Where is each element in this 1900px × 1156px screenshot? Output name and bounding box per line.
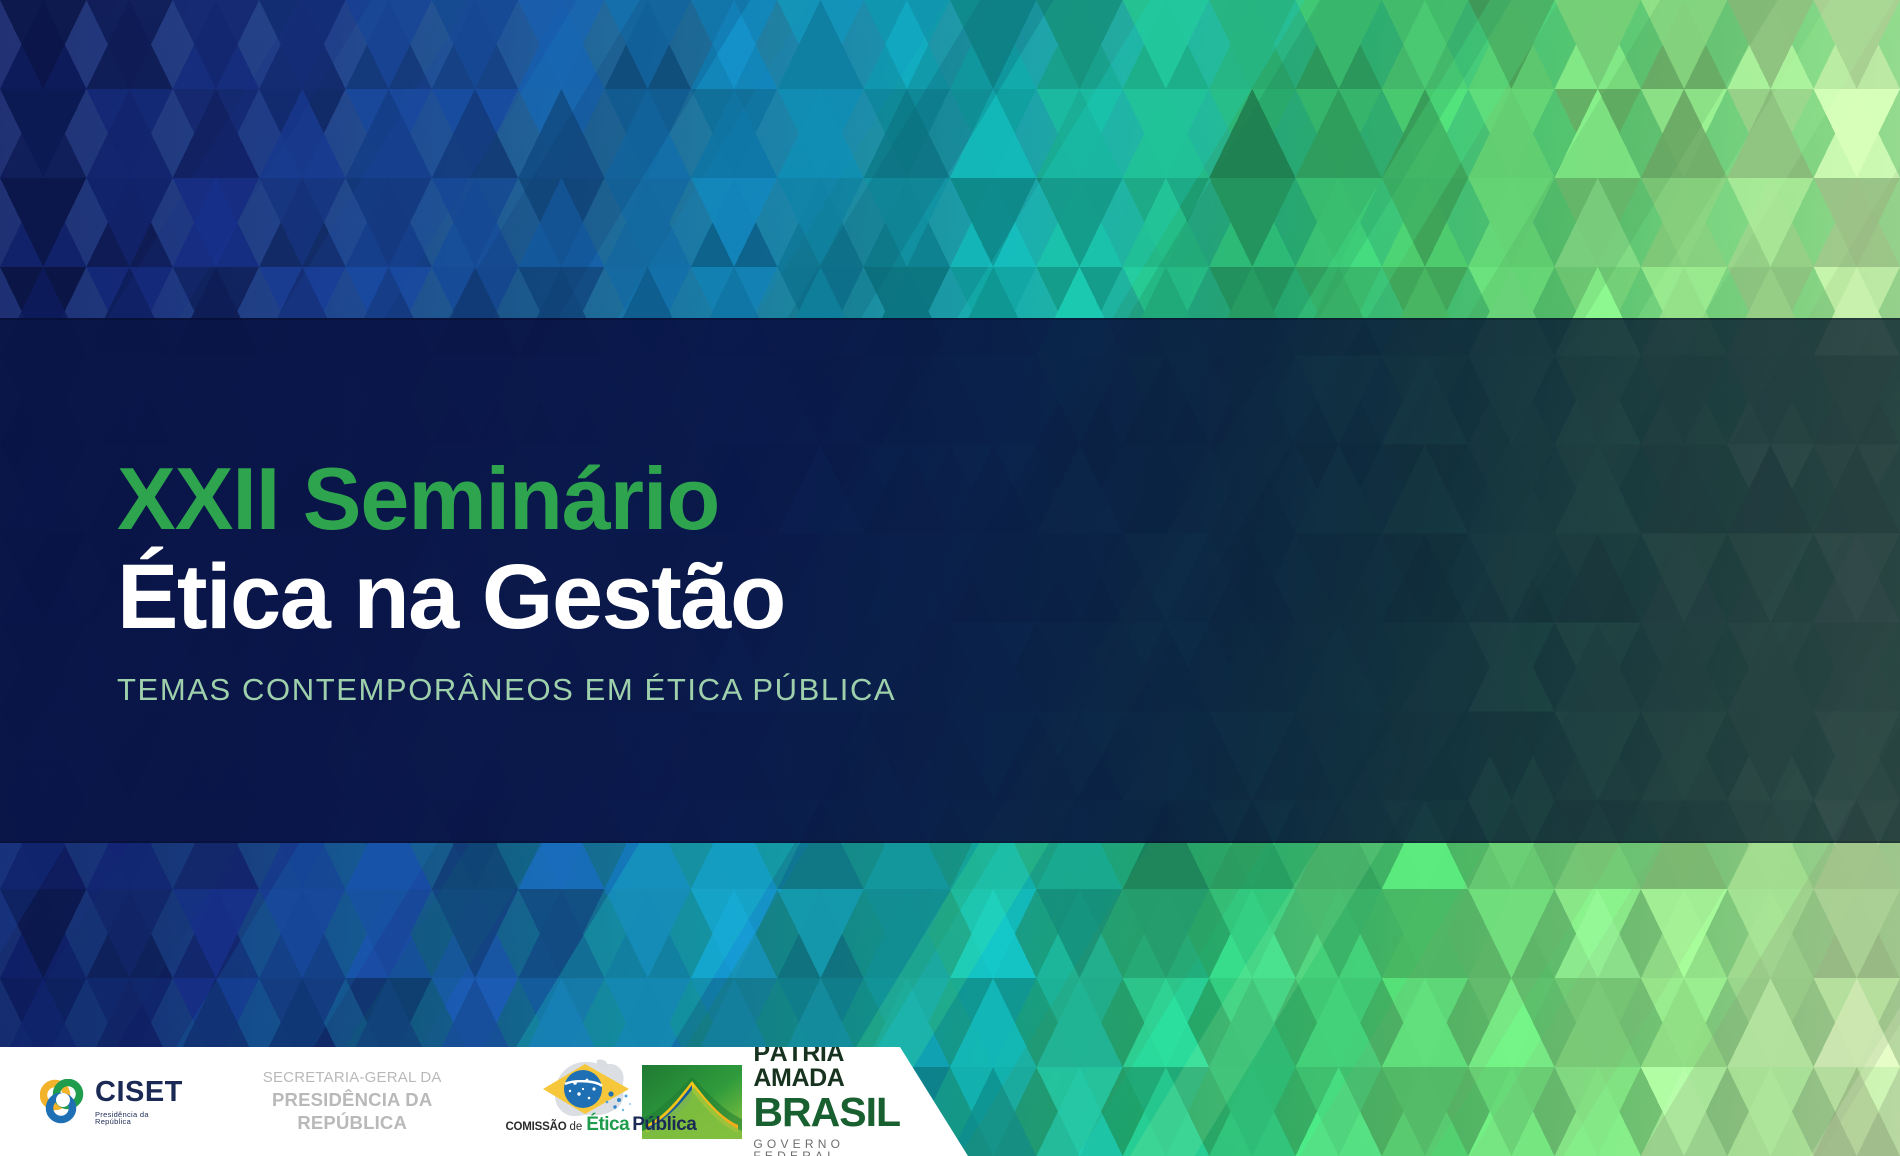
ciset-three-ring-icon bbox=[40, 1079, 86, 1125]
logo-patria-amada-brasil: PÁTRIA AMADA BRASIL GOVERNO FEDERAL bbox=[642, 1041, 900, 1156]
pab-line-2: BRASIL bbox=[753, 1092, 900, 1133]
ciset-subtitle: Presidência da República bbox=[95, 1111, 183, 1126]
ciset-wordmark: CISET bbox=[95, 1078, 183, 1107]
page-subtitle: TEMAS CONTEMPORÂNEOS EM ÉTICA PÚBLICA bbox=[117, 672, 1117, 708]
cep-word-de: de bbox=[569, 1121, 582, 1133]
pab-line-3: GOVERNO FEDERAL bbox=[753, 1138, 900, 1156]
logo-ciset: CISET Presidência da República bbox=[40, 1078, 183, 1126]
title-block: XXII Seminário Ética na Gestão TEMAS CON… bbox=[117, 455, 1117, 708]
cep-word-publica: Pública bbox=[632, 1114, 696, 1136]
cep-word-etica: Ética bbox=[586, 1114, 629, 1136]
page-title-line-2: Ética na Gestão bbox=[117, 549, 1117, 646]
cep-word-comissao: COMISSÃO bbox=[505, 1121, 566, 1133]
secretaria-geral-line-2: PRESIDÊNCIA DA REPÚBLICA bbox=[247, 1088, 458, 1134]
pab-line-1: PÁTRIA AMADA bbox=[753, 1041, 900, 1091]
slide-canvas: XXII Seminário Ética na Gestão TEMAS CON… bbox=[0, 0, 1900, 1156]
secretaria-geral-line-1: SECRETARIA-GERAL DA bbox=[247, 1069, 458, 1088]
page-title-line-1: XXII Seminário bbox=[117, 455, 1117, 543]
footer-logo-bar: CISET Presidência da República SECRETARI… bbox=[0, 1047, 990, 1156]
logo-comissao-etica-publica: COMISSÃO de Ética Pública bbox=[505, 1056, 620, 1148]
logo-secretaria-geral: SECRETARIA-GERAL DA PRESIDÊNCIA DA REPÚB… bbox=[247, 1069, 458, 1134]
